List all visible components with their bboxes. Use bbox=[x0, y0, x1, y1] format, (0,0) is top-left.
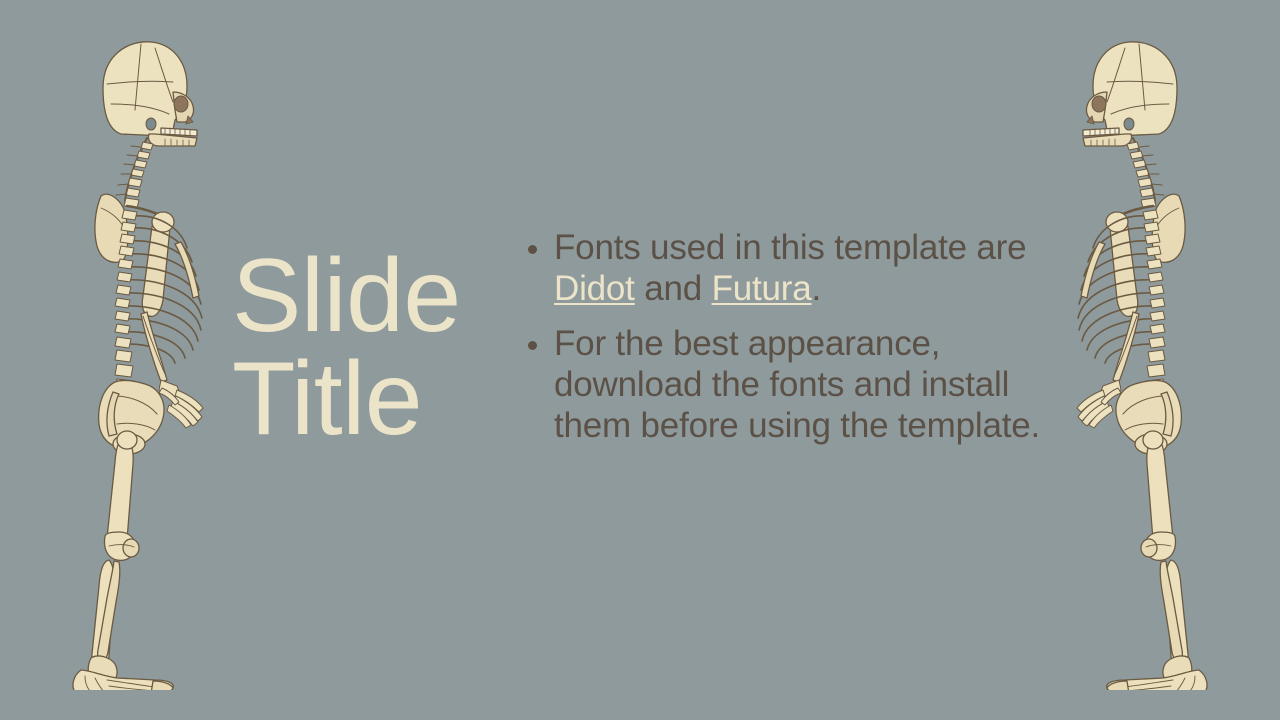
bullet-middle-text: and bbox=[635, 269, 712, 308]
bullet-text-fonts-used: Fonts used in this template are Didot an… bbox=[554, 228, 1048, 310]
bullet-item-fonts-used[interactable]: Fonts used in this template are Didot an… bbox=[528, 228, 1048, 310]
page-title[interactable]: Slide Title bbox=[232, 245, 500, 451]
body-placeholder[interactable]: Fonts used in this template are Didot an… bbox=[528, 228, 1048, 461]
slide-canvas: Slide Title Fonts used in this template … bbox=[0, 0, 1280, 720]
bullet-trail-text: . bbox=[812, 269, 822, 308]
bullet-item-best-appearance[interactable]: For the best appearance, download the fo… bbox=[528, 324, 1048, 447]
skeleton-illustration-left bbox=[55, 30, 215, 690]
title-placeholder[interactable]: Slide Title bbox=[232, 245, 500, 451]
skeleton-illustration-right bbox=[1065, 30, 1225, 690]
bullet-marker-icon bbox=[528, 324, 554, 350]
bullet-text-best-appearance: For the best appearance, download the fo… bbox=[554, 324, 1048, 447]
link-futura[interactable]: Futura bbox=[712, 269, 812, 308]
bullet-marker-icon bbox=[528, 228, 554, 254]
link-didot[interactable]: Didot bbox=[554, 269, 635, 308]
bullet-lead-text: Fonts used in this template are bbox=[554, 228, 1026, 267]
